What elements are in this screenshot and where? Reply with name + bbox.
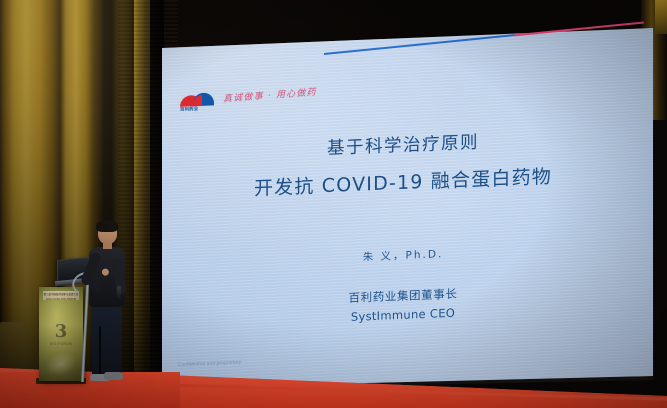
speaker-legs (92, 304, 122, 376)
podium-banner-header-text: 第三届中国医药创新与投资大会 (43, 291, 79, 297)
podium: 第三届中国医药创新与投资大会 2018 CHINA BIO-FORUM 3 BI… (39, 287, 83, 381)
speaker-shoe-right (104, 372, 123, 380)
logo-calligraphy: 真诚做事 · 用心做药 (223, 84, 317, 104)
slide-footer-note: Confidential and proprietary (178, 359, 241, 367)
decorative-line (324, 30, 644, 59)
gold-accent-top-right (655, 0, 667, 34)
handheld-microphone (117, 286, 121, 299)
slide-content: 百利药业 真诚做事 · 用心做药 基于科学治疗原则 开发抗 COVID-19 融… (150, 6, 656, 390)
slide-title-line-2: 开发抗 COVID-19 融合蛋白药物 (150, 158, 656, 205)
podium-banner-subtext: BIO-FORUM (39, 342, 83, 346)
speaker-glasses (100, 230, 115, 235)
podium-banner-graphic (42, 349, 79, 380)
presentation-photo: 百利药业 真诚做事 · 用心做药 基于科学治疗原则 开发抗 COVID-19 融… (0, 0, 667, 408)
logo-wordmark: 百利药业 (180, 106, 198, 113)
podium-banner-header-subtext: 2018 CHINA BIO-FORUM (43, 297, 79, 303)
decorative-line-blue (324, 34, 516, 55)
podium-banner-header: 第三届中国医药创新与投资大会 2018 CHINA BIO-FORUM (43, 291, 79, 300)
podium-banner-mark: 3 (39, 321, 83, 342)
speaker-figure (84, 222, 128, 386)
speaker-leg-split (99, 326, 101, 374)
decorative-line-pink (514, 21, 644, 36)
slide-speaker-name: 朱 义，Ph.D. (150, 238, 656, 273)
slide-logo-group: 百利药业 真诚做事 · 用心做药 (180, 81, 317, 108)
baili-arch-icon: 百利药业 (180, 85, 214, 108)
